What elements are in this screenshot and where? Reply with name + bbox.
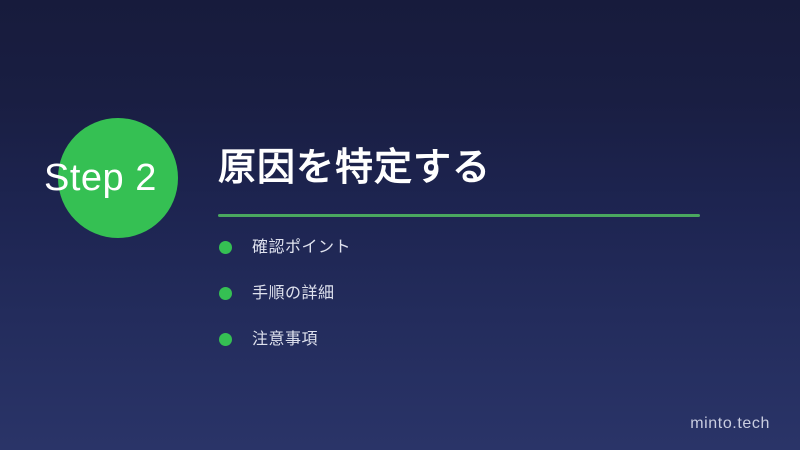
- step-badge-label: Step 2: [44, 154, 157, 202]
- page-title: 原因を特定する: [218, 143, 738, 193]
- bullet-dot-icon: [219, 241, 232, 254]
- title-underline-rule: [218, 214, 700, 217]
- bullet-dot-icon: [219, 287, 232, 300]
- slide-canvas: Step 2 原因を特定する 確認ポイント 手順の詳細 注意事項 minto.t…: [0, 0, 800, 450]
- list-item: 手順の詳細: [219, 284, 351, 303]
- bullet-dot-icon: [219, 333, 232, 346]
- list-item-label: 手順の詳細: [252, 284, 335, 303]
- list-item-label: 注意事項: [252, 330, 318, 349]
- list-item: 確認ポイント: [219, 238, 351, 257]
- bullet-list: 確認ポイント 手順の詳細 注意事項: [219, 238, 351, 349]
- list-item-label: 確認ポイント: [252, 238, 351, 257]
- footer-brand: minto.tech: [690, 414, 770, 434]
- list-item: 注意事項: [219, 330, 351, 349]
- heading-block: 原因を特定する: [218, 143, 738, 217]
